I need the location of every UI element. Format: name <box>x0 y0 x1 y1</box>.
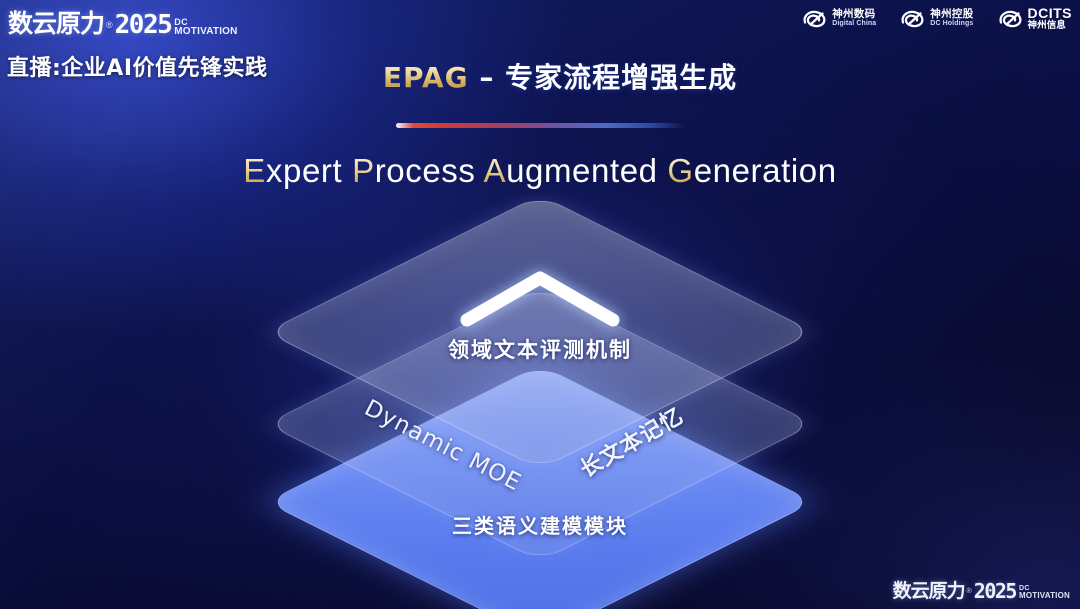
watermark-dc-motivation: DC MOTIVATION <box>1019 585 1070 600</box>
registered-mark: ® <box>106 20 113 30</box>
partner-name-en: 神州信息 <box>1028 21 1073 31</box>
brand-dc-motivation: DC MOTIVATION <box>174 18 237 37</box>
page-title: EPAG – 专家流程增强生成 <box>0 56 1080 96</box>
brand-name-cn: 数云原力 <box>8 4 104 40</box>
watermark-name-cn: 数云原力 <box>893 576 965 603</box>
subtitle-cap-3: A <box>483 152 506 189</box>
partner-text: DCITS 神州信息 <box>1028 6 1073 31</box>
partner-name-cn: DCITS <box>1028 6 1073 21</box>
diagram-label-top: 领域文本评测机制 <box>0 334 1080 364</box>
watermark-motivation-label: MOTIVATION <box>1019 592 1070 600</box>
partner-logo-dc-holdings: 神州控股 DC Holdings <box>900 9 973 28</box>
presentation-slide: 数云原力 ® 2025 DC MOTIVATION 直播:企业AI价值先锋实践 … <box>0 0 1080 609</box>
diagram-label-bottom: 三类语义建模模块 <box>0 510 1080 539</box>
subtitle-cap-1: E <box>243 152 266 189</box>
title-acronym: EPAG <box>383 61 469 94</box>
partner-logo-group: 神州数码 Digital China 神州控股 DC Holdings <box>802 6 1072 31</box>
partner-text: 神州控股 DC Holdings <box>930 9 973 27</box>
subtitle-cap-4: G <box>667 152 693 189</box>
partner-name-cn: 神州数码 <box>832 9 876 20</box>
brand-logo: 数云原力 ® 2025 DC MOTIVATION <box>8 4 238 40</box>
partner-name-cn: 神州控股 <box>930 9 973 20</box>
subtitle-rest-3: ugmented <box>506 152 658 189</box>
watermark-year: 2025 <box>974 579 1016 603</box>
partner-name-en: DC Holdings <box>930 20 973 27</box>
swirl-logo-icon <box>998 9 1023 28</box>
footer-watermark-logo: 数云原力 ® 2025 DC MOTIVATION <box>893 576 1070 603</box>
subtitle-cap-2: P <box>352 152 375 189</box>
partner-logo-dcits: DCITS 神州信息 <box>998 6 1073 31</box>
brand-motivation-label: MOTIVATION <box>174 27 237 37</box>
partner-logo-digital-china: 神州数码 Digital China <box>802 9 876 28</box>
swirl-logo-icon <box>900 9 925 28</box>
subtitle-rest-4: eneration <box>694 152 837 189</box>
page-subtitle: Expert Process Augmented Generation <box>0 152 1080 190</box>
partner-name-en: Digital China <box>832 20 876 27</box>
subtitle-rest-1: xpert <box>266 152 342 189</box>
title-separator: – <box>469 61 506 94</box>
subtitle-rest-2: rocess <box>375 152 476 189</box>
partner-text: 神州数码 Digital China <box>832 9 876 27</box>
swirl-logo-icon <box>802 9 827 28</box>
title-chinese: 专家流程增强生成 <box>505 61 737 94</box>
title-divider <box>396 123 686 128</box>
watermark-registered-mark: ® <box>967 588 972 595</box>
brand-year: 2025 <box>115 10 172 40</box>
